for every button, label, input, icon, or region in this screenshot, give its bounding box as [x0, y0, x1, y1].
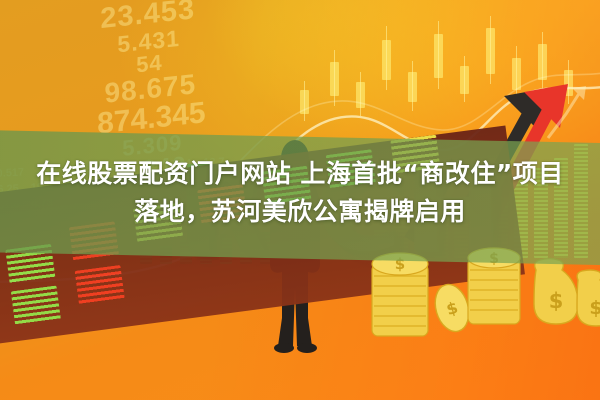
page-title: 在线股票配资门户网站 上海首批“商改住”项目 落地，苏河美欣公寓揭牌启用 — [0, 155, 600, 231]
money-bag-icon: $ — [534, 259, 578, 325]
ticker-row — [75, 265, 125, 305]
coin-stack-icon: $ — [372, 253, 428, 336]
svg-text:$: $ — [589, 297, 600, 319]
svg-text:$: $ — [549, 289, 564, 313]
money-bag-icon: $ — [577, 270, 600, 326]
headline-line-2: 落地，苏河美欣公寓揭牌启用 — [0, 193, 600, 231]
coin-icon: $ — [430, 281, 474, 336]
ticker-row — [11, 285, 61, 325]
banner-image: 23.453 5.431 54 98.675 874.345 5.309 2.3… — [0, 0, 600, 400]
headline-line-1: 在线股票配资门户网站 上海首批“商改住”项目 — [0, 155, 600, 193]
